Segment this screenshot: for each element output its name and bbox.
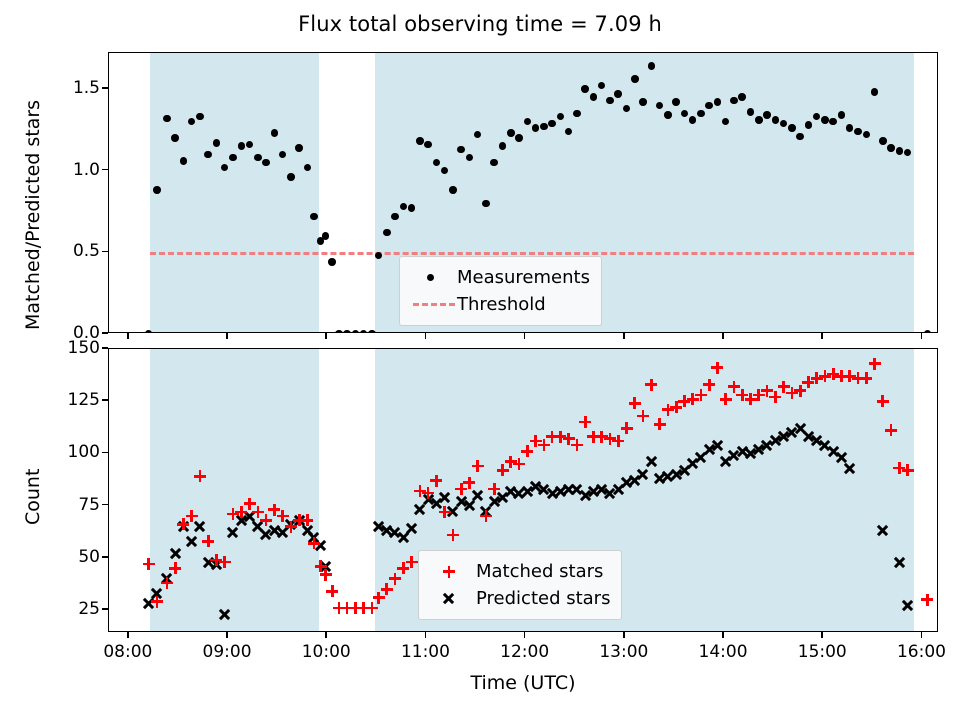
data-point	[416, 137, 424, 145]
data-point	[391, 213, 399, 221]
data-point	[631, 75, 639, 83]
x-tick-mark	[921, 632, 923, 638]
data-point	[295, 144, 303, 152]
x-tick-mark	[226, 333, 228, 339]
data-point	[573, 110, 581, 118]
x-tick-mark	[226, 632, 228, 638]
threshold-line	[150, 252, 914, 255]
x-tick-mark	[821, 632, 823, 638]
x-tick-mark	[722, 632, 724, 638]
plus-marker-icon	[430, 558, 476, 585]
data-point	[838, 111, 846, 119]
data-point	[499, 142, 507, 150]
x-tick-mark	[325, 333, 327, 339]
data-point	[772, 116, 780, 124]
y-tick-mark	[102, 87, 108, 89]
y-tick-label: 125	[0, 390, 100, 410]
x-tick-mark	[722, 333, 724, 339]
legend-item-predicted-stars: Predicted stars	[430, 585, 610, 612]
x-tick-mark	[524, 632, 526, 638]
y-tick-label: 1.0	[0, 160, 100, 180]
x-tick-label: 13:00	[599, 642, 648, 662]
y-tick-mark	[102, 504, 108, 506]
data-point	[548, 120, 556, 128]
x-tick-label: 12:00	[500, 642, 549, 662]
data-point	[262, 159, 270, 167]
x-tick-label: 15:00	[798, 642, 847, 662]
data-point	[180, 157, 188, 165]
data-point	[322, 232, 330, 240]
y-tick-mark	[102, 347, 108, 349]
data-point	[747, 108, 755, 116]
data-point	[507, 129, 515, 137]
data-point	[163, 115, 171, 123]
data-point	[614, 90, 622, 98]
data-point	[490, 159, 498, 167]
y-tick-mark	[102, 332, 108, 334]
x-tick-mark	[425, 333, 427, 339]
data-point	[383, 229, 391, 237]
x-tick-mark	[623, 632, 625, 638]
y-tick-mark	[102, 399, 108, 401]
data-point	[879, 137, 887, 145]
data-point	[887, 144, 895, 152]
y-tick-label: 150	[0, 338, 100, 358]
data-point	[805, 121, 813, 129]
data-point	[352, 330, 360, 333]
data-point	[689, 116, 697, 124]
data-point	[924, 330, 932, 333]
data-point	[335, 330, 343, 333]
y-tick-label: 100	[0, 442, 100, 462]
x-tick-mark	[623, 333, 625, 339]
data-point	[515, 134, 523, 142]
y-tick-mark	[102, 251, 108, 253]
data-point	[697, 110, 705, 118]
data-point	[788, 124, 796, 132]
data-point	[271, 129, 279, 137]
data-point	[705, 102, 713, 110]
y-tick-mark	[102, 452, 108, 454]
legend-item-matched-stars: Matched stars	[430, 558, 610, 585]
data-point	[639, 98, 647, 106]
ratio-ylabel: Matched/Predicted stars	[22, 100, 44, 330]
count-ylabel: Count	[22, 469, 44, 525]
y-tick-mark	[102, 169, 108, 171]
x-tick-label: 10:00	[302, 642, 351, 662]
data-point	[755, 116, 763, 124]
data-point	[424, 141, 432, 149]
legend-label: Measurements	[457, 267, 590, 288]
data-point	[730, 97, 738, 105]
data-point	[343, 330, 351, 333]
data-point	[204, 151, 212, 159]
data-point	[368, 330, 376, 333]
count-legend: Matched stars Predicted stars	[418, 550, 622, 620]
data-point	[457, 146, 465, 154]
legend-label: Matched stars	[476, 561, 603, 582]
data-point	[145, 330, 153, 333]
x-tick-mark	[425, 632, 427, 638]
data-point	[287, 173, 295, 181]
data-point	[854, 128, 862, 136]
y-tick-label: 50	[0, 547, 100, 567]
data-point	[310, 213, 318, 221]
data-point	[482, 200, 490, 208]
data-point	[238, 142, 246, 150]
legend-item-threshold: Threshold	[411, 291, 590, 318]
x-tick-mark	[127, 333, 129, 339]
data-point	[714, 98, 722, 106]
legend-item-measurements: Measurements	[411, 264, 590, 291]
x-tick-mark	[524, 333, 526, 339]
y-tick-mark	[102, 556, 108, 558]
y-tick-mark	[102, 608, 108, 610]
threshold-dash-icon	[411, 291, 457, 318]
data-point	[229, 154, 237, 162]
x-tick-mark	[127, 632, 129, 638]
data-point	[213, 139, 221, 147]
legend-label: Predicted stars	[476, 588, 610, 609]
shaded-interval	[150, 53, 319, 332]
data-point	[896, 147, 904, 155]
data-point	[821, 116, 829, 124]
data-point	[648, 62, 656, 70]
x-tick-label: 14:00	[699, 642, 748, 662]
data-point	[540, 123, 548, 131]
measurements-dot-icon	[411, 264, 457, 291]
data-point	[672, 98, 680, 106]
x-tick-label: 16:00	[897, 642, 946, 662]
data-point	[664, 111, 672, 119]
data-point	[796, 133, 804, 141]
x-tick-mark	[821, 333, 823, 339]
x-tick-mark	[921, 333, 923, 339]
data-point	[196, 113, 204, 121]
figure: Flux total observing time = 7.09 h 0.00.…	[0, 0, 960, 720]
data-point	[254, 154, 262, 162]
x-tick-label: 11:00	[401, 642, 450, 662]
x-tick-mark	[325, 632, 327, 638]
cross-marker-icon	[430, 585, 476, 612]
y-tick-label: 0.5	[0, 241, 100, 261]
data-point	[328, 258, 336, 266]
data-point	[171, 134, 179, 142]
data-point	[763, 111, 771, 119]
x-tick-label: 08:00	[103, 642, 152, 662]
y-tick-label: 75	[0, 495, 100, 515]
data-point	[590, 93, 598, 101]
data-point	[449, 186, 457, 194]
y-tick-label: 25	[0, 599, 100, 619]
data-point	[153, 186, 161, 194]
data-point	[606, 97, 614, 105]
data-point	[360, 330, 368, 333]
data-point	[581, 85, 589, 93]
xaxis-label: Time (UTC)	[108, 672, 938, 694]
y-tick-label: 1.5	[0, 78, 100, 98]
data-point	[738, 93, 746, 101]
legend-label: Threshold	[457, 294, 546, 315]
ratio-legend: Measurements Threshold	[399, 256, 602, 326]
x-tick-label: 09:00	[203, 642, 252, 662]
shaded-interval	[150, 349, 319, 631]
figure-title: Flux total observing time = 7.09 h	[0, 12, 960, 36]
